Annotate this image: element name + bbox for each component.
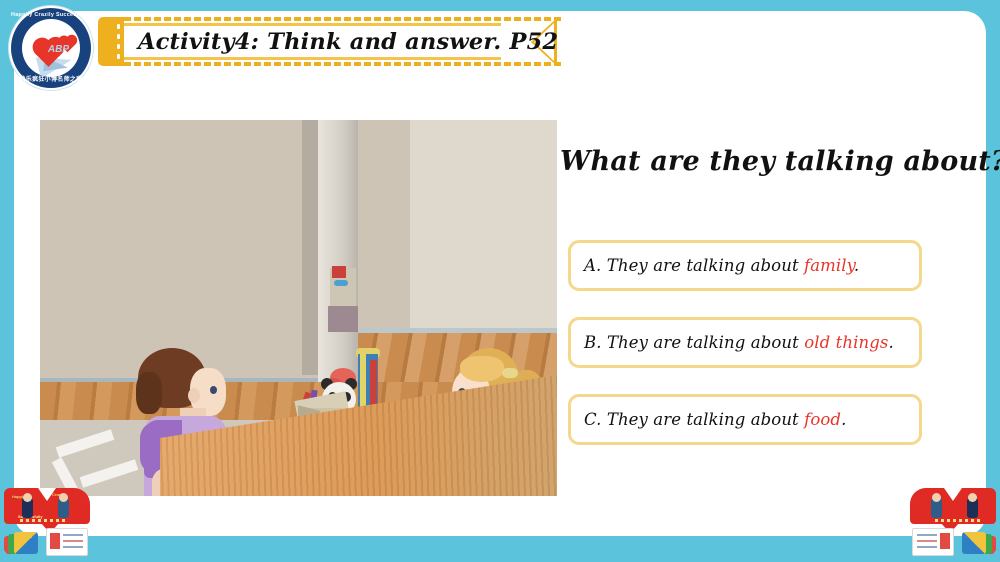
answer-option-c[interactable]: C. They are talking about food. — [568, 394, 922, 445]
answer-option-c-text: C. They are talking about food. — [584, 410, 846, 429]
answer-option-a[interactable]: A. They are talking about family. — [568, 240, 922, 291]
corner-dotted-line — [20, 519, 66, 522]
activity-title: Activity4: Think and answer. P52 — [138, 17, 558, 66]
kid-head-icon-1 — [968, 493, 977, 502]
kid-head-icon-1 — [23, 493, 32, 502]
scene-image — [40, 120, 557, 496]
badge-top-text: Happily Crazily Successfully — [11, 12, 91, 18]
slide: Happily Crazily Successfully 快乐疯狂小博名师之家 … — [0, 0, 1000, 562]
block-icon-cube — [14, 532, 38, 554]
answer-option-b[interactable]: B. They are talking about old things. — [568, 317, 922, 368]
badge-inner: ABP — [22, 19, 80, 77]
ribbon-left-cap — [98, 17, 124, 66]
answer-option-b-text: B. They are talking about old things. — [584, 333, 894, 352]
block-icon-cube — [962, 532, 986, 554]
answer-option-a-text: A. They are talking about family. — [584, 256, 859, 275]
school-badge-logo: Happily Crazily Successfully 快乐疯狂小博名师之家 … — [9, 6, 93, 90]
badge-ring: Happily Crazily Successfully 快乐疯狂小博名师之家 … — [11, 8, 91, 88]
workbook-card-icon — [912, 528, 954, 556]
corner-decoration-right — [904, 484, 1000, 560]
title-ribbon: Activity4: Think and answer. P52 — [98, 17, 563, 66]
corner-dotted-line — [934, 519, 980, 522]
kid-head-icon-2 — [59, 493, 68, 502]
corner-banner-notch — [944, 488, 962, 501]
badge-initials: ABP — [48, 44, 69, 55]
question-text: What are they talking about? — [560, 146, 1000, 177]
corner-decoration-left: Happily Crazily Successfully — [0, 484, 96, 560]
kid-head-icon-2 — [932, 493, 941, 502]
workbook-card-icon — [46, 528, 88, 556]
